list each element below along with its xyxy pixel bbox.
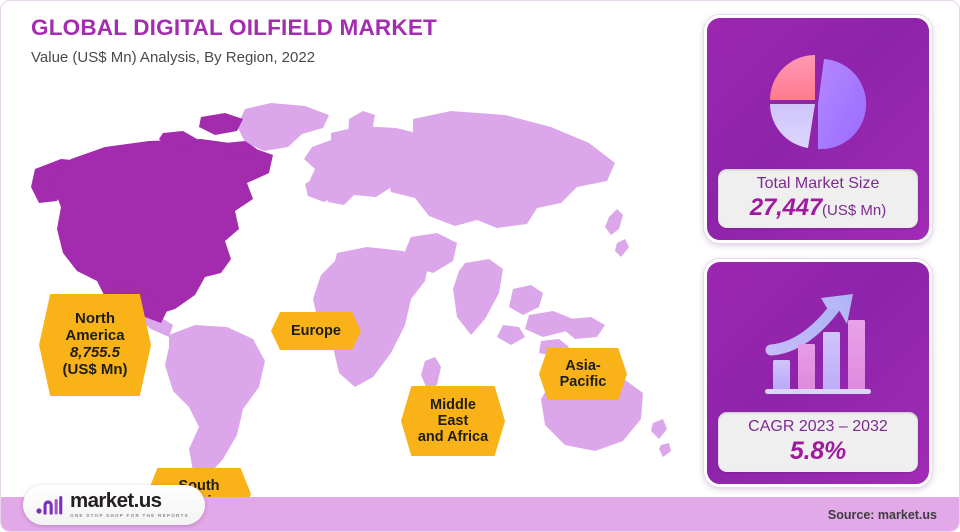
infographic-canvas: GLOBAL DIGITAL OILFIELD MARKET Value (US… [0,0,960,532]
region-tag-north-america[interactable]: North America 8,755.5 (US$ Mn) [39,294,151,396]
world-map-svg [13,93,685,483]
region-tag-middle-east-africa[interactable]: Middle East and Africa [401,386,505,456]
cagr-value: 5.8% [790,437,846,465]
total-market-size-card[interactable]: Total Market Size 27,447(US$ Mn) [704,15,932,243]
region-unit: (US$ Mn) [63,362,128,379]
cagr-value-row: 5.8% [722,438,914,466]
map-highlight-north-america [31,113,273,323]
region-label-line1: North [75,311,115,328]
market-size-label: Total Market Size [722,175,914,193]
header: GLOBAL DIGITAL OILFIELD MARKET Value (US… [31,15,651,67]
cagr-card[interactable]: CAGR 2023 – 2032 5.8% [704,259,932,487]
market-size-value: 27,447 [750,194,822,221]
logo-name: market.us [70,491,189,512]
region-tag-asia-pacific[interactable]: Asia- Pacific [539,348,627,400]
world-map-container: North America 8,755.5 (US$ Mn) South Ame… [13,93,685,483]
region-label-line1: Europe [291,323,341,339]
market-size-unit: (US$ Mn) [822,202,886,219]
region-label-line2: Pacific [560,374,607,390]
region-label-line1: Middle [430,397,476,413]
source-attribution: Source: market.us [828,508,937,522]
region-label-line1: Asia- [565,358,600,374]
cagr-label: CAGR 2023 – 2032 [722,418,914,436]
region-label-line3: and Africa [418,429,488,445]
region-tag-europe[interactable]: Europe [271,312,361,350]
market-us-logo[interactable]: market.us ONE STOP SHOP FOR THE REPORTS [23,485,205,525]
page-subtitle: Value (US$ Mn) Analysis, By Region, 2022 [31,49,651,67]
market-size-value-box: Total Market Size 27,447(US$ Mn) [718,169,918,228]
cagr-value-box: CAGR 2023 – 2032 5.8% [718,412,918,472]
logo-tagline: ONE STOP SHOP FOR THE REPORTS [70,514,189,519]
region-label-line2: East [438,413,469,429]
logo-text: market.us ONE STOP SHOP FOR THE REPORTS [70,491,189,519]
region-value: 8,755.5 [70,345,120,362]
logo-mark-icon [36,494,63,517]
pie-chart-icon [718,32,918,169]
page-title: GLOBAL DIGITAL OILFIELD MARKET [31,15,651,42]
region-label-line2: America [65,328,124,345]
growth-bar-chart-icon [718,276,918,412]
market-size-value-row: 27,447(US$ Mn) [722,195,914,221]
